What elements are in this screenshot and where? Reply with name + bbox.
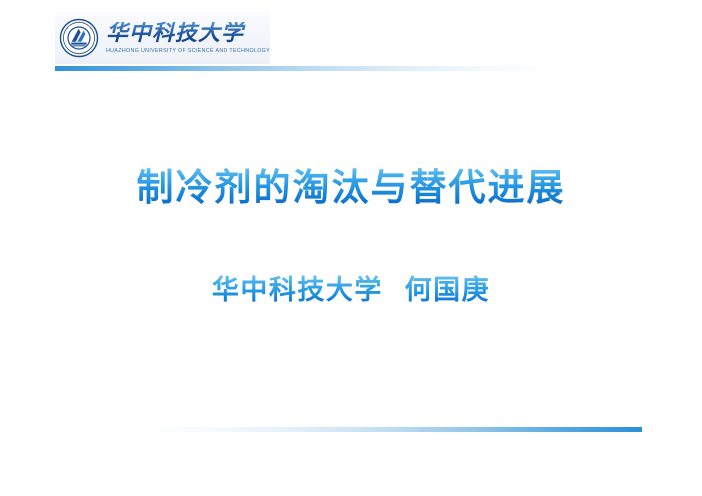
bottom-gradient-rule bbox=[142, 427, 642, 432]
university-logo: 华中科技大学 HUAZHONG UNIVERSITY OF SCIENCE AN… bbox=[55, 12, 270, 64]
presentation-slide: 华中科技大学 HUAZHONG UNIVERSITY OF SCIENCE AN… bbox=[0, 0, 702, 496]
logo-chinese-name: 华中科技大学 bbox=[106, 22, 270, 45]
logo-text-block: 华中科技大学 HUAZHONG UNIVERSITY OF SCIENCE AN… bbox=[106, 22, 270, 53]
slide-title: 制冷剂的淘汰与替代进展 bbox=[0, 164, 702, 212]
hust-seal-emblem-icon bbox=[59, 18, 99, 58]
logo-english-name: HUAZHONG UNIVERSITY OF SCIENCE AND TECHN… bbox=[106, 48, 273, 54]
top-gradient-rule bbox=[55, 66, 555, 71]
slide-subtitle-author: 华中科技大学 何国庚 bbox=[0, 272, 702, 310]
